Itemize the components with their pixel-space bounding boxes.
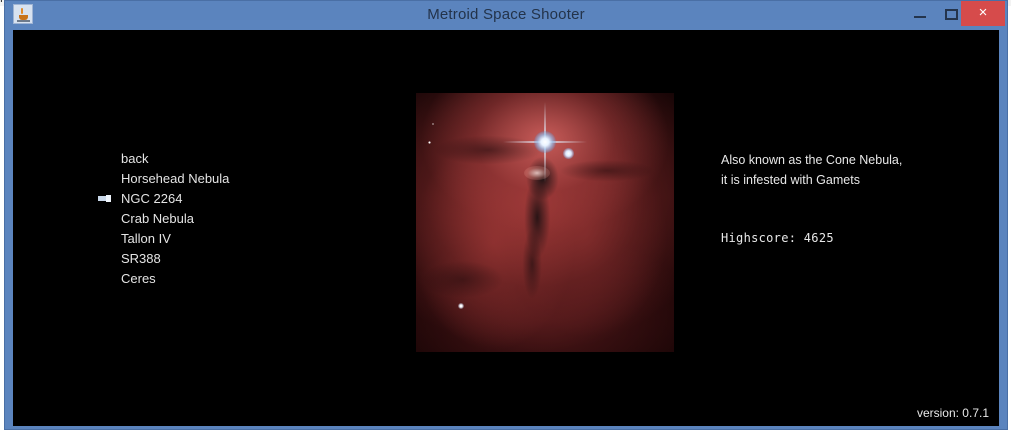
game-canvas[interactable]: back Horsehead Nebula NGC 2264 Crab Nebu… bbox=[13, 30, 999, 426]
menu-item-ceres[interactable]: Ceres bbox=[116, 269, 366, 289]
description-line-1: Also known as the Cone Nebula, bbox=[721, 150, 991, 170]
ship-hull bbox=[98, 196, 106, 201]
menu-item-label: back bbox=[121, 149, 148, 169]
description-line-2: it is infested with Gamets bbox=[721, 170, 991, 190]
menu-item-crab-nebula[interactable]: Crab Nebula bbox=[116, 209, 366, 229]
ship-cursor-icon bbox=[98, 195, 111, 202]
nebula-bright-knot bbox=[524, 166, 550, 180]
application-window: Metroid Space Shooter × bbox=[4, 0, 1008, 430]
menu-item-label: NGC 2264 bbox=[121, 189, 182, 209]
menu-item-label: Tallon IV bbox=[121, 229, 171, 249]
close-icon: × bbox=[961, 5, 1005, 21]
menu-item-tallon-iv[interactable]: Tallon IV bbox=[116, 229, 366, 249]
menu-item-label: Ceres bbox=[121, 269, 156, 289]
version-label: version: 0.7.1 bbox=[917, 406, 989, 420]
window-titlebar[interactable]: Metroid Space Shooter × bbox=[5, 1, 1007, 29]
desktop-background: File Edit Search Source Refactor Navigat… bbox=[0, 0, 1011, 437]
level-description: Also known as the Cone Nebula, it is inf… bbox=[721, 150, 991, 190]
menu-item-label: SR388 bbox=[121, 249, 161, 269]
secondary-star bbox=[563, 148, 574, 159]
minimize-button[interactable] bbox=[905, 1, 935, 27]
menu-item-sr388[interactable]: SR388 bbox=[116, 249, 366, 269]
cone-nebula-image bbox=[416, 93, 674, 352]
menu-item-label: Crab Nebula bbox=[121, 209, 194, 229]
menu-item-ngc-2264[interactable]: NGC 2264 bbox=[116, 189, 366, 209]
level-select-menu: back Horsehead Nebula NGC 2264 Crab Nebu… bbox=[116, 149, 366, 289]
menu-item-horsehead-nebula[interactable]: Horsehead Nebula bbox=[116, 169, 366, 189]
window-title: Metroid Space Shooter bbox=[5, 6, 1007, 23]
minimize-icon bbox=[914, 16, 926, 18]
menu-item-back[interactable]: back bbox=[116, 149, 366, 169]
close-button[interactable]: × bbox=[961, 1, 1005, 26]
maximize-icon bbox=[945, 9, 958, 20]
menu-item-label: Horsehead Nebula bbox=[121, 169, 229, 189]
ship-nose bbox=[106, 195, 111, 202]
highscore-label: Highscore: 4625 bbox=[721, 231, 834, 245]
